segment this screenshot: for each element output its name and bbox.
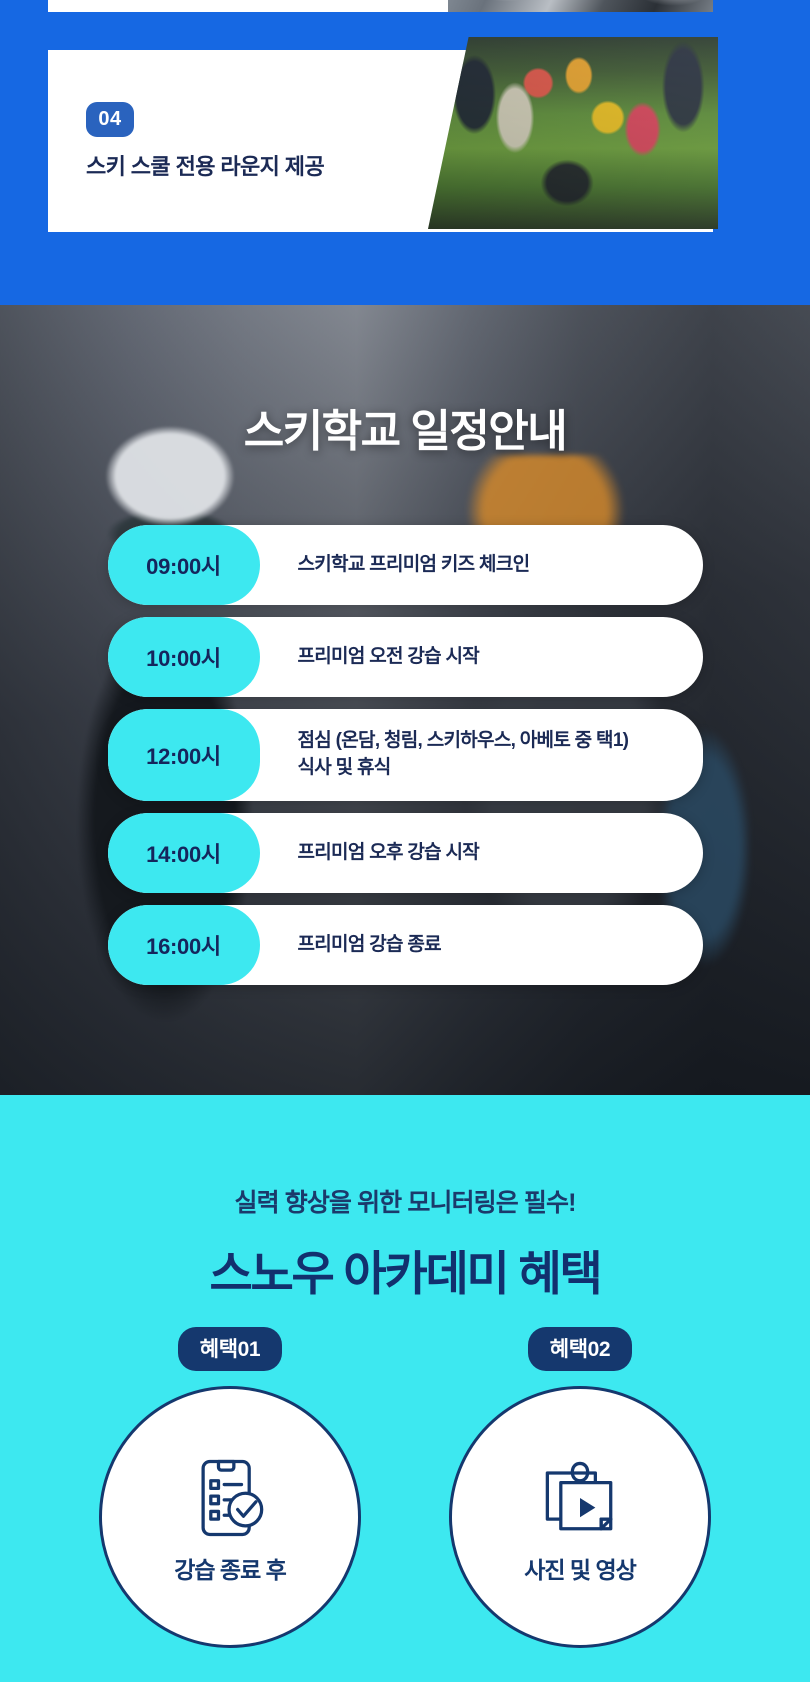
benefit-item-02: 혜택02 사진 및 영상	[444, 1327, 716, 1648]
feature-card-section: 04 스키 스쿨 전용 라운지 제공	[0, 0, 810, 305]
benefit-label-02: 사진 및 영상	[524, 1556, 636, 1585]
photo-video-icon	[532, 1450, 628, 1546]
schedule-title: 스키학교 일정안내	[0, 395, 810, 459]
previous-feature-card	[48, 0, 713, 12]
promo-page: 04 스키 스쿨 전용 라운지 제공 스키학교 일정안내 09:00시스키학교 …	[0, 0, 810, 1682]
benefit-circle-02: 사진 및 영상	[449, 1386, 711, 1648]
schedule-time-pill: 14:00시	[108, 813, 260, 893]
benefits-section: 실력 향상을 위한 모니터링은 필수! 스노우 아카데미 혜택 혜택01	[0, 1095, 810, 1682]
schedule-row-text: 프리미엄 오전 강습 시작	[298, 644, 504, 671]
feature-number-badge: 04	[86, 102, 134, 137]
schedule-row: 16:00시프리미엄 강습 종료	[108, 905, 703, 985]
benefits-title: 스노우 아카데미 혜택	[0, 1235, 810, 1304]
schedule-row: 14:00시프리미엄 오후 강습 시작	[108, 813, 703, 893]
schedule-row-text: 프리미엄 오후 강습 시작	[298, 840, 504, 867]
benefit-circle-01: 강습 종료 후	[99, 1386, 361, 1648]
schedule-row: 12:00시점심 (온담, 청림, 스키하우스, 아베토 중 택1)식사 및 휴…	[108, 709, 703, 801]
schedule-time-pill: 10:00시	[108, 617, 260, 697]
checklist-clipboard-icon	[182, 1450, 278, 1546]
schedule-row-text: 스키학교 프리미엄 키즈 체크인	[298, 552, 554, 579]
schedule-row: 10:00시프리미엄 오전 강습 시작	[108, 617, 703, 697]
benefits-columns: 혜택01 강습 종료 후 혜택02	[0, 1327, 810, 1648]
benefits-subtitle: 실력 향상을 위한 모니터링은 필수!	[0, 1183, 810, 1219]
benefit-badge-02: 혜택02	[528, 1327, 632, 1371]
schedule-row: 09:00시스키학교 프리미엄 키즈 체크인	[108, 525, 703, 605]
ski-slope-photo	[448, 0, 713, 12]
benefit-badge-01: 혜택01	[178, 1327, 282, 1371]
ski-school-lounge-photo	[428, 37, 718, 229]
benefit-item-01: 혜택01 강습 종료 후	[94, 1327, 366, 1648]
schedule-time-pill: 16:00시	[108, 905, 260, 985]
benefit-label-01: 강습 종료 후	[174, 1556, 286, 1585]
schedule-row-text: 점심 (온담, 청림, 스키하우스, 아베토 중 택1)식사 및 휴식	[298, 728, 653, 782]
feature-card-04[interactable]: 04 스키 스쿨 전용 라운지 제공	[48, 50, 713, 232]
schedule-time-pill: 12:00시	[108, 709, 260, 801]
schedule-time-pill: 09:00시	[108, 525, 260, 605]
schedule-list: 09:00시스키학교 프리미엄 키즈 체크인10:00시프리미엄 오전 강습 시…	[0, 525, 810, 985]
schedule-row-text: 프리미엄 강습 종료	[298, 932, 465, 959]
